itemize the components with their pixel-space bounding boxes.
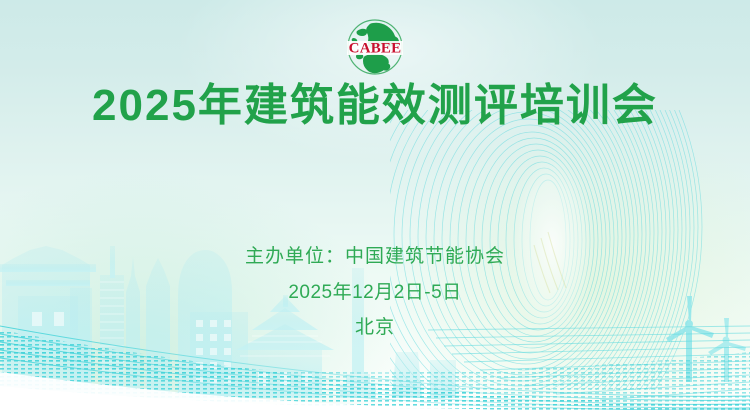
- organizer-line: 主办单位：中国建筑节能协会: [0, 247, 750, 283]
- event-meta: 主办单位：中国建筑节能协会 2025年12月2日-5日 北京: [0, 247, 750, 337]
- cabee-globe-logo: CABEE: [339, 14, 411, 80]
- logo-wordmark: CABEE: [349, 41, 402, 57]
- event-city-line: 北京: [0, 318, 750, 337]
- event-date-line: 2025年12月2日-5日: [0, 283, 750, 318]
- poster-canvas: CABEE 2025年建筑能效测评培训会 主办单位：中国建筑节能协会 2025年…: [0, 0, 750, 410]
- page-title: 2025年建筑能效测评培训会: [0, 80, 750, 132]
